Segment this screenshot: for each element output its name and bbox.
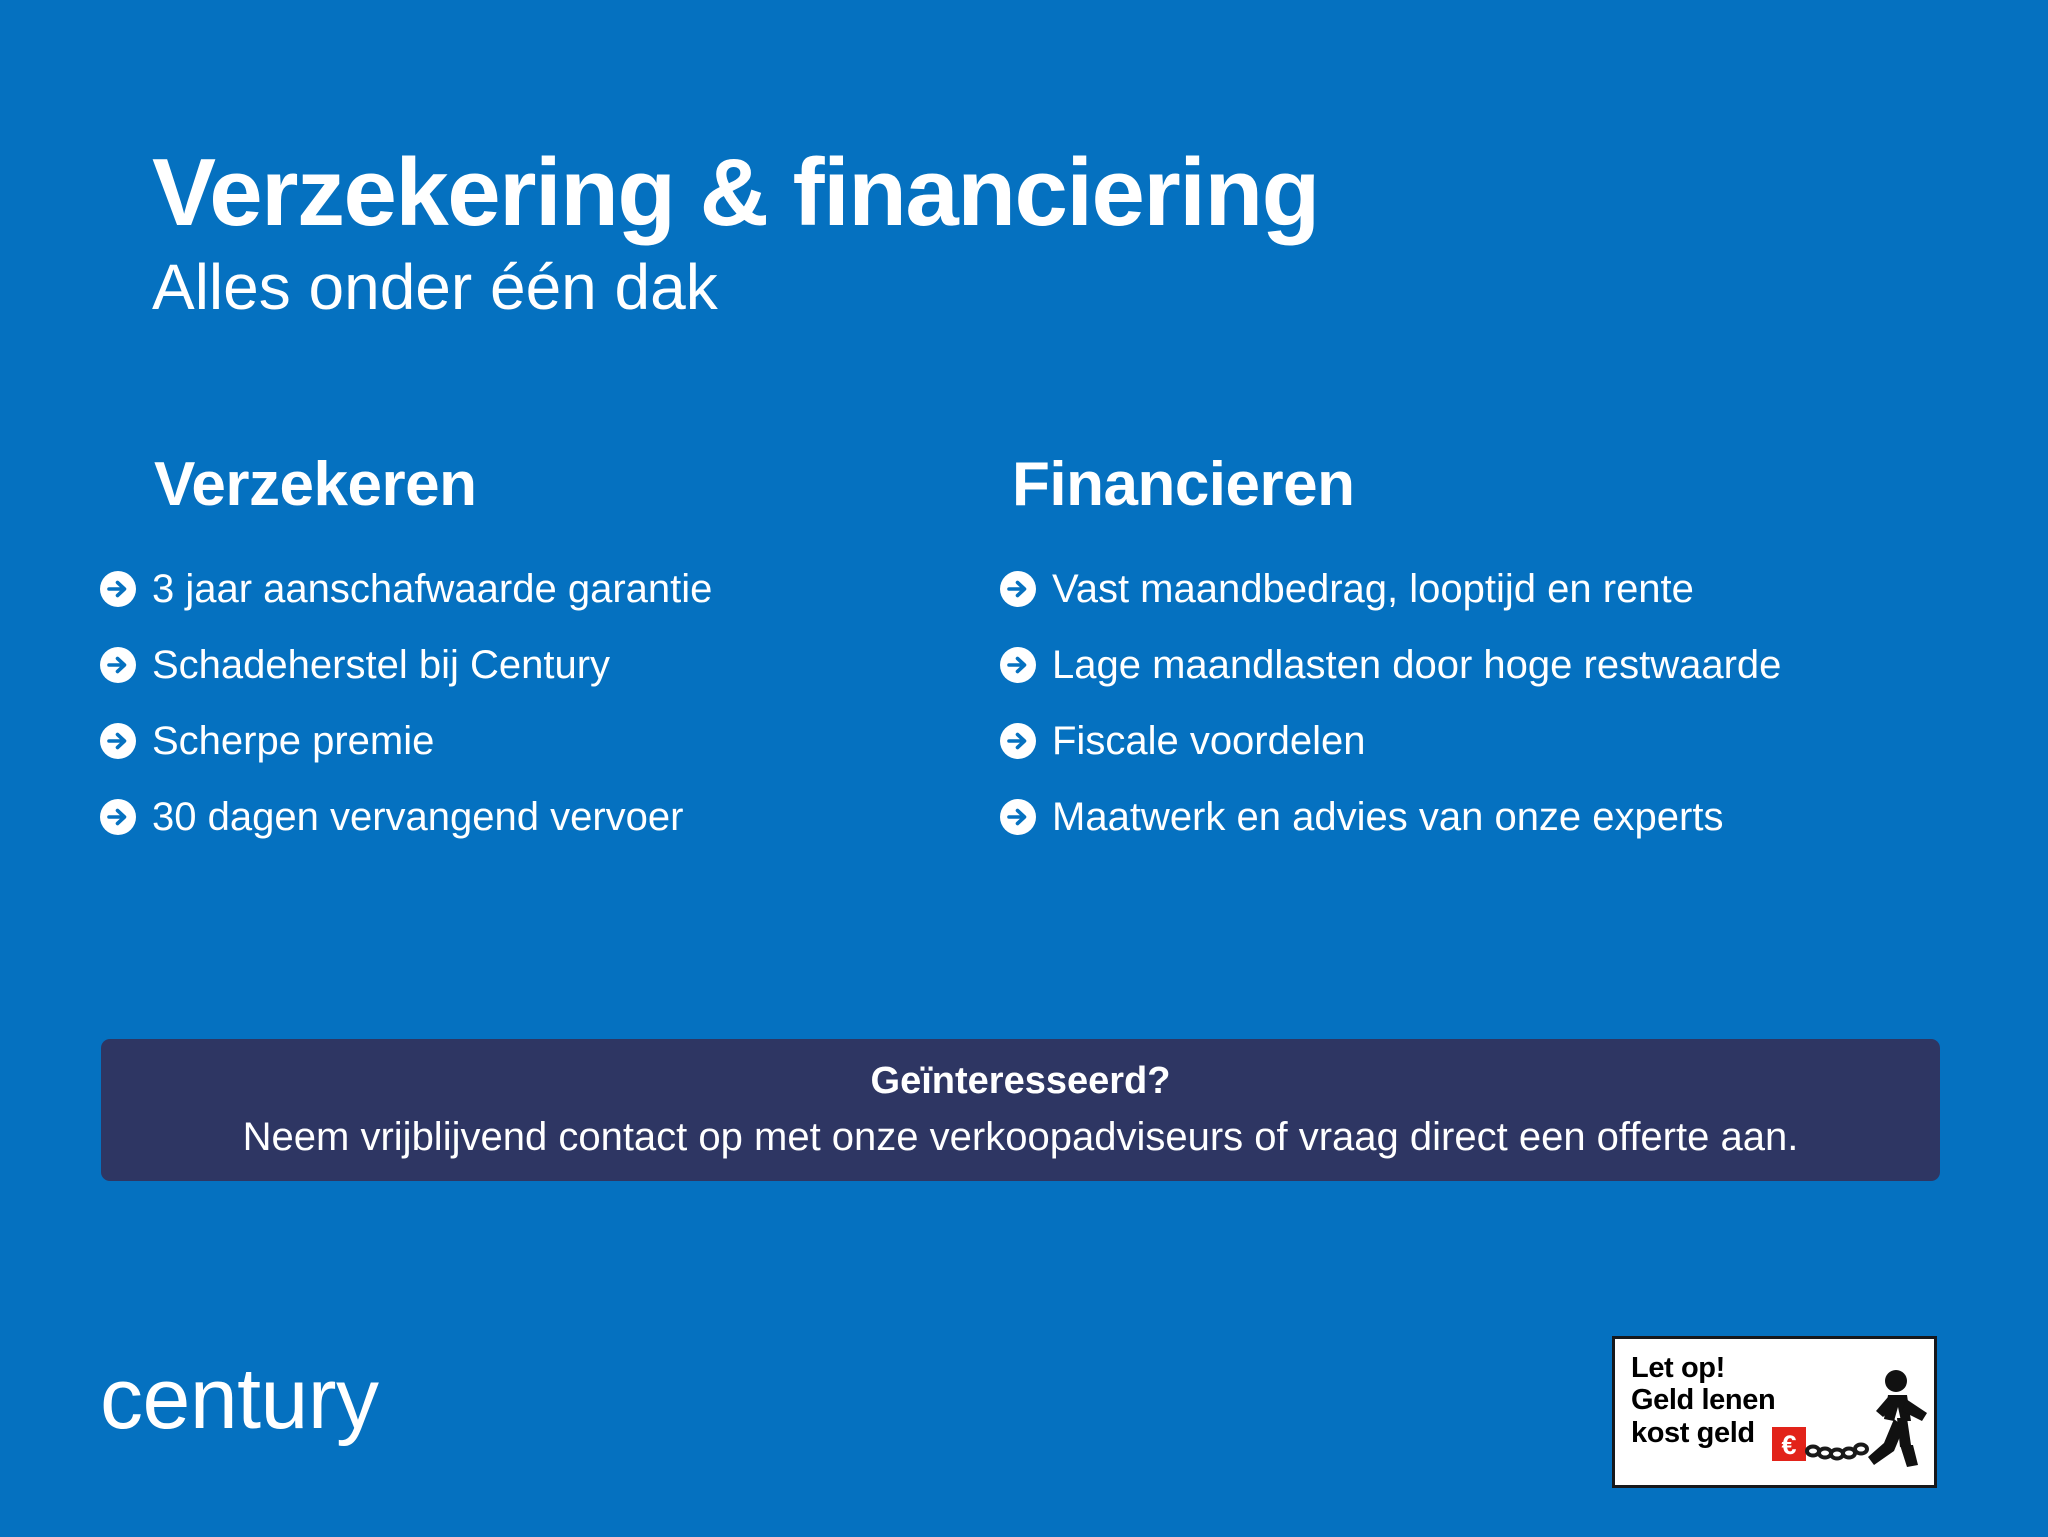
list-item-label: Vast maandbedrag, looptijd en rente	[1052, 567, 1694, 611]
cta-text: Neem vrijblijvend contact op met onze ve…	[243, 1113, 1799, 1161]
list-item-label: Fiscale voordelen	[1052, 719, 1366, 763]
column-title-financieren: Financieren	[1012, 452, 1960, 517]
header: Verzekering & financiering Alles onder é…	[152, 142, 1852, 325]
arrow-right-circle-icon	[1000, 647, 1036, 683]
page-subtitle: Alles onder één dak	[152, 250, 1852, 326]
list-item-label: 30 dagen vervangend vervoer	[152, 795, 683, 839]
list-item-label: 3 jaar aanschafwaarde garantie	[152, 567, 712, 611]
arrow-right-circle-icon	[1000, 799, 1036, 835]
list-item: Scherpe premie	[100, 703, 1000, 779]
column-title-verzekeren: Verzekeren	[154, 452, 1000, 517]
legal-warning-box: Let op! Geld lenen kost geld €	[1612, 1336, 1937, 1488]
slide-root: Verzekering & financiering Alles onder é…	[0, 0, 2048, 1537]
cta-banner: Geïnteresseerd? Neem vrijblijvend contac…	[101, 1039, 1940, 1181]
arrow-right-circle-icon	[100, 799, 136, 835]
arrow-right-circle-icon	[100, 571, 136, 607]
arrow-right-circle-icon	[1000, 571, 1036, 607]
svg-text:€: €	[1781, 1430, 1796, 1460]
list-item: 3 jaar aanschafwaarde garantie	[100, 551, 1000, 627]
person-dragging-euro-ball-and-chain-icon: €	[1770, 1369, 1930, 1479]
list-item: Fiscale voordelen	[1000, 703, 1960, 779]
cta-heading: Geïnteresseerd?	[871, 1059, 1171, 1105]
list-item: Schadeherstel bij Century	[100, 627, 1000, 703]
list-item: Lage maandlasten door hoge restwaarde	[1000, 627, 1960, 703]
feature-columns: Verzekeren 3 jaar aanschafwaarde garanti…	[100, 452, 1960, 855]
bullet-list-financieren: Vast maandbedrag, looptijd en rente Lage…	[1012, 551, 1960, 855]
arrow-right-circle-icon	[100, 723, 136, 759]
arrow-right-circle-icon	[1000, 723, 1036, 759]
list-item-label: Schadeherstel bij Century	[152, 643, 610, 687]
legal-warning-text: Let op! Geld lenen kost geld	[1631, 1352, 1775, 1449]
page-title: Verzekering & financiering	[152, 142, 1852, 244]
column-financieren: Financieren Vast maandbedrag, looptijd e…	[1000, 452, 1960, 855]
column-verzekeren: Verzekeren 3 jaar aanschafwaarde garanti…	[100, 452, 1000, 855]
bullet-list-verzekeren: 3 jaar aanschafwaarde garantie Schadeher…	[154, 551, 1000, 855]
list-item: 30 dagen vervangend vervoer	[100, 779, 1000, 855]
list-item: Vast maandbedrag, looptijd en rente	[1000, 551, 1960, 627]
century-logo: century	[100, 1356, 379, 1442]
legal-warning-inner: Let op! Geld lenen kost geld €	[1615, 1339, 1934, 1485]
list-item-label: Lage maandlasten door hoge restwaarde	[1052, 643, 1781, 687]
list-item-label: Maatwerk en advies van onze experts	[1052, 795, 1723, 839]
list-item-label: Scherpe premie	[152, 719, 434, 763]
list-item: Maatwerk en advies van onze experts	[1000, 779, 1960, 855]
arrow-right-circle-icon	[100, 647, 136, 683]
